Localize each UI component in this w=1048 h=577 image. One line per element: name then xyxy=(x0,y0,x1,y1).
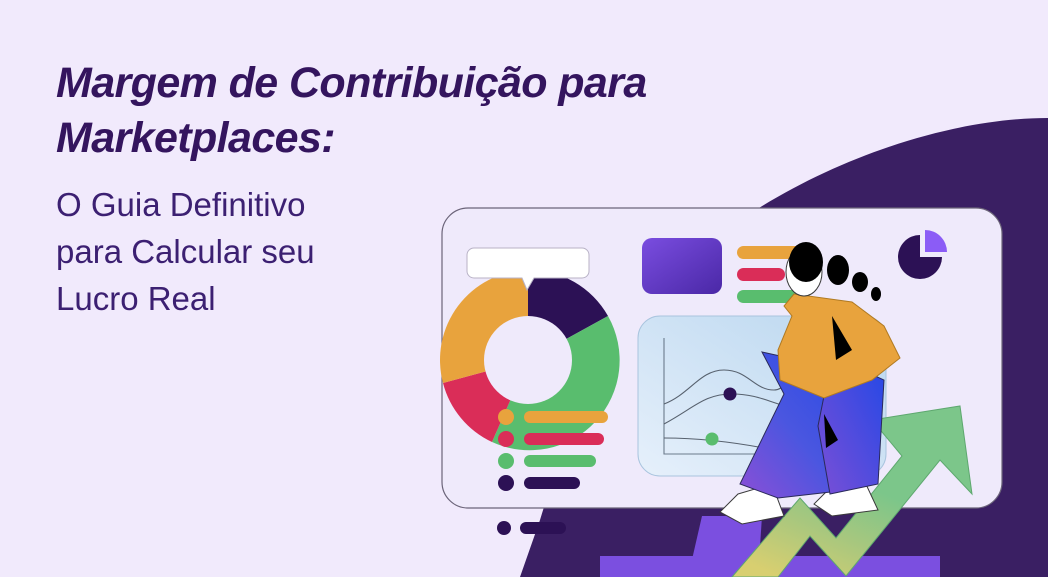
page-title-line-2: Marketplaces: xyxy=(56,111,476,166)
hair xyxy=(789,242,823,282)
hair-tuft-2 xyxy=(852,272,868,292)
page-subtitle-line-2: para Calcular seu xyxy=(56,229,476,276)
line-marker-purple xyxy=(724,388,737,401)
hair-tuft-1 xyxy=(827,255,849,285)
kpi-tile xyxy=(642,238,722,294)
footer-legend-item xyxy=(497,521,566,535)
stat-bar-crimson xyxy=(737,268,785,281)
page-title-line-1: Margem de Contribuição para xyxy=(56,56,476,111)
page-subtitle-line-1: O Guia Definitivo xyxy=(56,182,476,229)
dashboard-illustration xyxy=(432,198,1048,577)
legend-item-purple xyxy=(498,475,580,491)
hair-tuft-3 xyxy=(871,287,881,301)
poster-canvas: Margem de Contribuição para Marketplaces… xyxy=(0,0,1048,577)
page-subtitle-line-3: Lucro Real xyxy=(56,276,476,323)
hero-text-block: Margem de Contribuição para Marketplaces… xyxy=(56,56,476,323)
line-marker-green xyxy=(706,433,719,446)
